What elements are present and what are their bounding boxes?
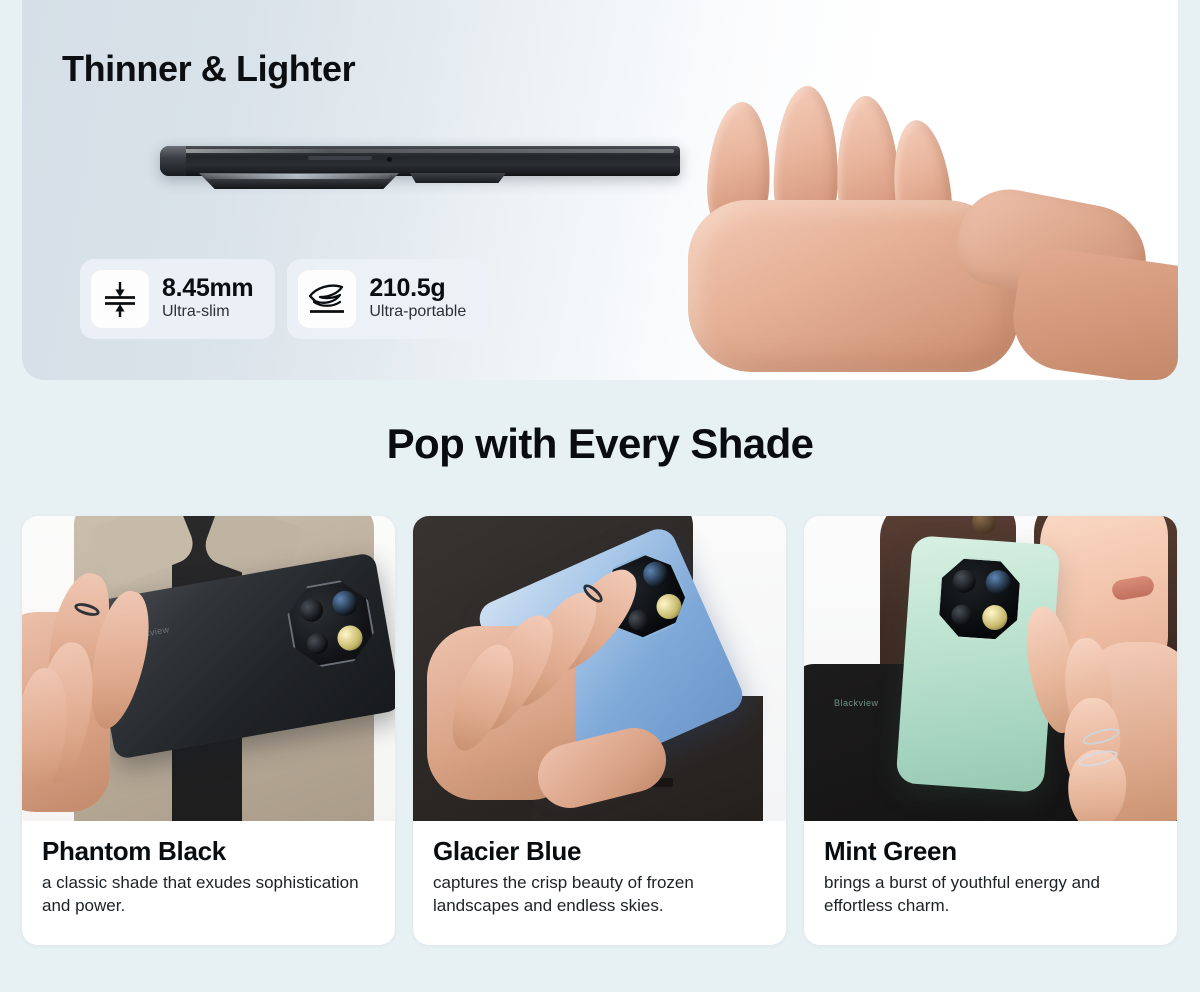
camera-lens-1 (298, 597, 325, 624)
thickness-icon (91, 270, 149, 328)
hero-title: Thinner & Lighter (62, 48, 355, 90)
color-card-mint-green[interactable]: Blackview Mint Green brings a burst of y… (804, 516, 1177, 945)
camera-module (936, 555, 1024, 643)
hero-panel: Thinner & Lighter (22, 0, 1178, 380)
color-name-mint-green: Mint Green (824, 837, 1157, 866)
camera-flash (981, 604, 1008, 631)
camera-lens-3 (305, 632, 329, 656)
phone-end-cap (160, 146, 186, 176)
spec-badge-group: 8.45mm Ultra-slim 210.5g Ultra-portable (80, 259, 488, 339)
spec-label-weight: Ultra-portable (369, 302, 466, 323)
color-description-glacier-blue: captures the crisp beauty of frozen land… (433, 872, 766, 918)
spec-label-thickness: Ultra-slim (162, 302, 253, 323)
color-name-glacier-blue: Glacier Blue (433, 837, 766, 866)
hand-image (1020, 624, 1177, 821)
spec-badge-thickness: 8.45mm Ultra-slim (80, 259, 275, 339)
camera-flash (335, 624, 364, 653)
hand-image (622, 80, 1178, 380)
phone-speaker-slot (308, 156, 372, 160)
hand-image (433, 546, 683, 796)
wrist (1007, 244, 1178, 380)
camera-bump-sheen (204, 174, 390, 179)
color-card-photo-glacier-blue: Blackview (413, 516, 786, 821)
spec-value-thickness: 8.45mm (162, 275, 253, 302)
color-card-phantom-black[interactable]: Blackview Phantom Black a classic shade … (22, 516, 395, 945)
camera-module (283, 576, 378, 671)
color-card-photo-phantom-black: Blackview (22, 516, 395, 821)
phone-edge-highlight (166, 149, 674, 153)
spec-badge-weight: 210.5g Ultra-portable (287, 259, 488, 339)
camera-lens-1 (952, 569, 977, 594)
phone-side-profile-image (160, 146, 680, 192)
color-card-photo-mint-green: Blackview (804, 516, 1177, 821)
brand-logo-text: Blackview (834, 698, 879, 708)
camera-lens-2 (330, 589, 359, 618)
phone-microphone-hole (387, 157, 392, 162)
color-name-phantom-black: Phantom Black (42, 837, 375, 866)
phone-lower-edge (410, 173, 506, 183)
camera-lens-3 (951, 604, 973, 626)
color-card-list: Blackview Phantom Black a classic shade … (22, 516, 1178, 945)
section-heading: Pop with Every Shade (0, 420, 1200, 468)
spec-value-weight: 210.5g (369, 275, 466, 302)
camera-lens-2 (985, 569, 1012, 596)
color-card-glacier-blue[interactable]: Blackview Glacier Blue captures the cris… (413, 516, 786, 945)
hand-image (22, 572, 202, 802)
color-description-mint-green: brings a burst of youthful energy and ef… (824, 872, 1157, 918)
feather-icon (298, 270, 356, 328)
color-description-phantom-black: a classic shade that exudes sophisticati… (42, 872, 375, 918)
